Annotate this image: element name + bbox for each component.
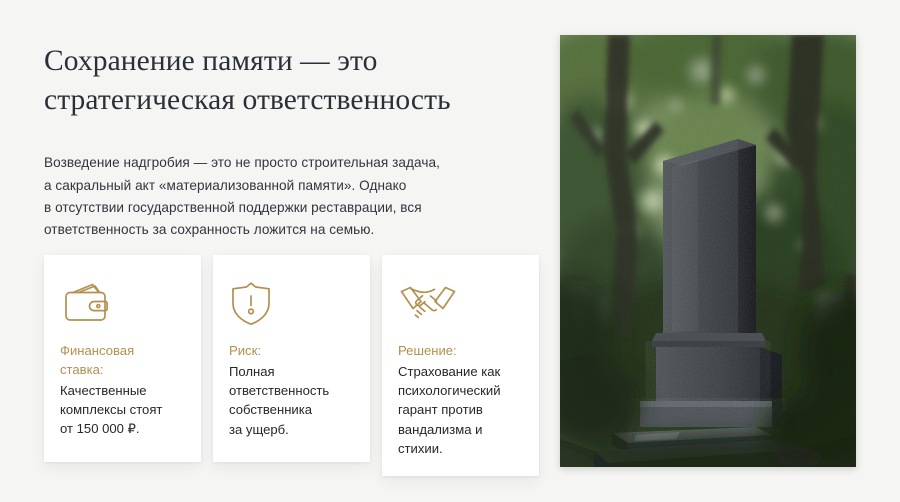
card-label: Риск:: [229, 342, 354, 361]
granite-monument-photo: [560, 35, 856, 467]
card-text: Полная ответственность собственника за у…: [229, 362, 354, 439]
slide-root: Сохранение памяти — это стратегическая о…: [0, 0, 900, 502]
handshake-icon: [398, 274, 523, 332]
card-solution[interactable]: Решение: Страхование как психологический…: [382, 255, 539, 476]
card-text: Страхование как психологический гарант п…: [398, 362, 523, 458]
page-title: Сохранение памяти — это стратегическая о…: [44, 42, 534, 120]
left-content-column: Сохранение памяти — это стратегическая о…: [44, 42, 534, 241]
wallet-icon: [60, 274, 185, 332]
card-financial-stake[interactable]: Финансовая ставка: Качественные комплекс…: [44, 255, 201, 462]
feature-card-list: Финансовая ставка: Качественные комплекс…: [44, 255, 539, 476]
intro-paragraph: Возведение надгробия — это не просто стр…: [44, 152, 514, 241]
card-label: Решение:: [398, 342, 523, 361]
photo-artwork: [560, 35, 856, 467]
card-text: Качественные комплексы стоят от 150 000 …: [60, 381, 185, 439]
shield-alert-icon: [229, 274, 354, 332]
card-risk[interactable]: Риск: Полная ответственность собственник…: [213, 255, 370, 462]
card-label: Финансовая ставка:: [60, 342, 185, 380]
